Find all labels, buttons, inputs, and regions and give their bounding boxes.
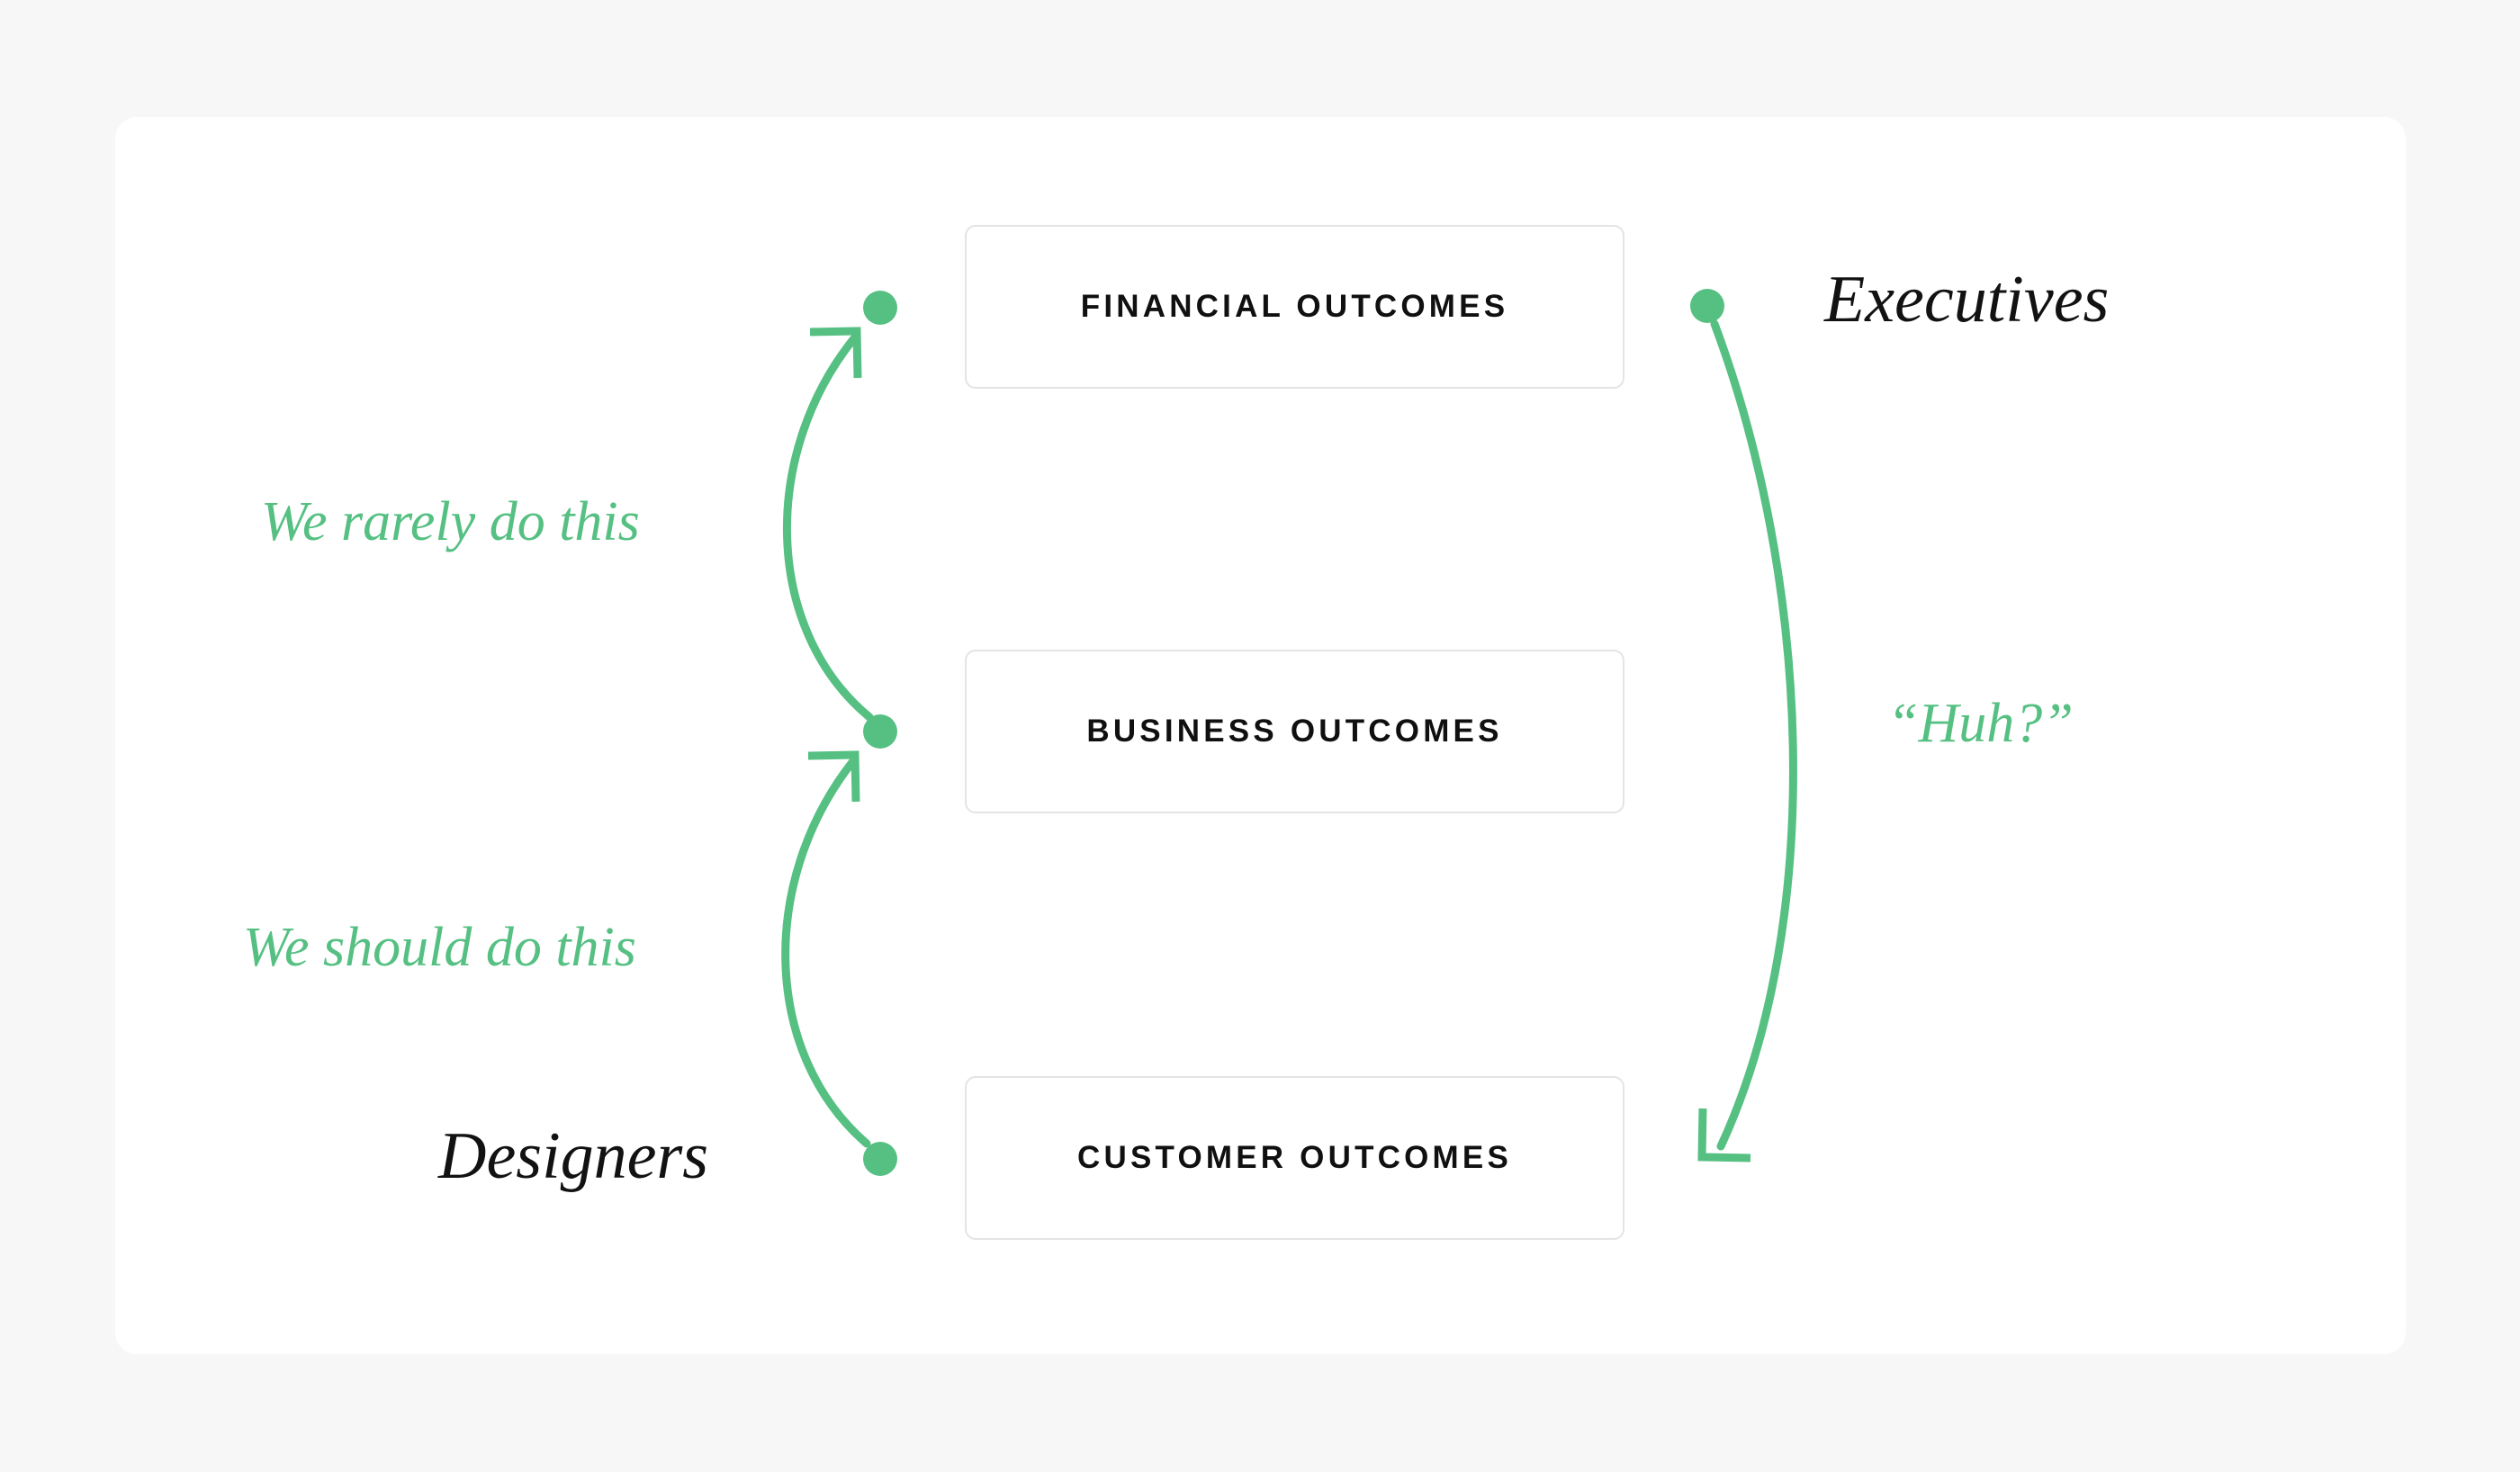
annotation-huh-quote: “Huh?”: [1887, 696, 2074, 751]
outcome-box-label: CUSTOMER OUTCOMES: [1077, 1140, 1512, 1176]
annotation-we-rarely-do-this: We rarely do this: [261, 494, 640, 550]
annotation-we-should-do-this: We should do this: [243, 920, 636, 975]
actor-label-executives: Executives: [1824, 266, 2109, 333]
outcome-box-financial[interactable]: FINANCIAL OUTCOMES: [965, 225, 1624, 389]
outcome-box-label: BUSINESS OUTCOMES: [1086, 714, 1502, 749]
diagram-canvas: FINANCIAL OUTCOMES BUSINESS OUTCOMES CUS…: [0, 0, 2520, 1472]
outcome-box-customer[interactable]: CUSTOMER OUTCOMES: [965, 1076, 1624, 1240]
outcome-box-label: FINANCIAL OUTCOMES: [1081, 289, 1509, 325]
outcome-box-business[interactable]: BUSINESS OUTCOMES: [965, 650, 1624, 813]
actor-label-designers: Designers: [438, 1123, 708, 1189]
